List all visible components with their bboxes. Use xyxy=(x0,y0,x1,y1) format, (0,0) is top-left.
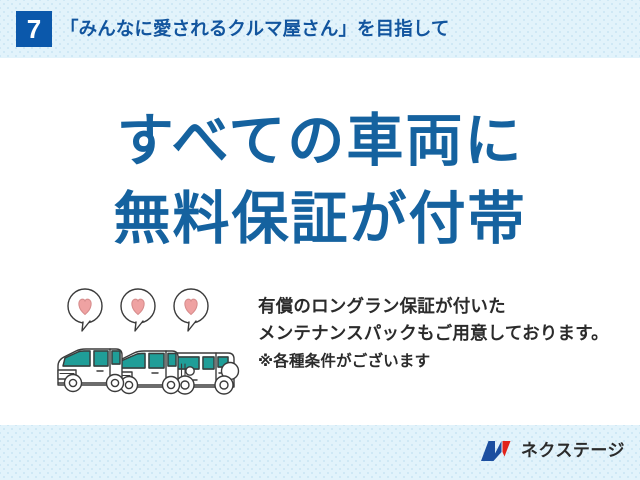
body-copy-note: ※各種条件がございます xyxy=(258,348,630,375)
headline-line-1: すべての車両に xyxy=(0,102,640,180)
banner-footer: ネクステージ xyxy=(0,425,640,480)
banner-header: 7 「みんなに愛されるクルマ屋さん」を目指して xyxy=(0,0,640,58)
brand-logo: ネクステージ xyxy=(480,437,625,465)
lower-content: 有償のロングラン保証が付いた メンテナンスパックもご用意しております。 ※各種条… xyxy=(0,286,640,406)
header-title: 「みんなに愛されるクルマ屋さん」を目指して xyxy=(60,14,450,44)
heart-bubble-3 xyxy=(174,289,208,331)
body-copy-line-1: 有償のロングラン保証が付いた xyxy=(258,294,630,321)
nextage-n-mark-icon xyxy=(480,439,514,463)
body-copy-line-2: メンテナンスパックもご用意しております。 xyxy=(258,321,630,348)
body-copy: 有償のロングラン保証が付いた メンテナンスパックもご用意しております。 ※各種条… xyxy=(258,294,630,375)
headline: すべての車両に 無料保証が付帯 xyxy=(0,102,640,258)
heart-bubble-2 xyxy=(121,289,155,331)
warranty-banner: 7 「みんなに愛されるクルマ屋さん」を目指して すべての車両に 無料保証が付帯 xyxy=(0,0,640,480)
headline-line-2: 無料保証が付帯 xyxy=(0,180,640,258)
car-kei-wagon xyxy=(58,349,124,392)
cars-illustration-svg xyxy=(52,286,257,396)
section-number-badge: 7 xyxy=(16,11,52,47)
brand-logo-text: ネクステージ xyxy=(521,439,625,463)
cars-illustration xyxy=(52,286,257,396)
car-minivan xyxy=(114,351,180,394)
heart-bubble-1 xyxy=(68,289,102,331)
banner-body: すべての車両に 無料保証が付帯 xyxy=(0,58,640,425)
